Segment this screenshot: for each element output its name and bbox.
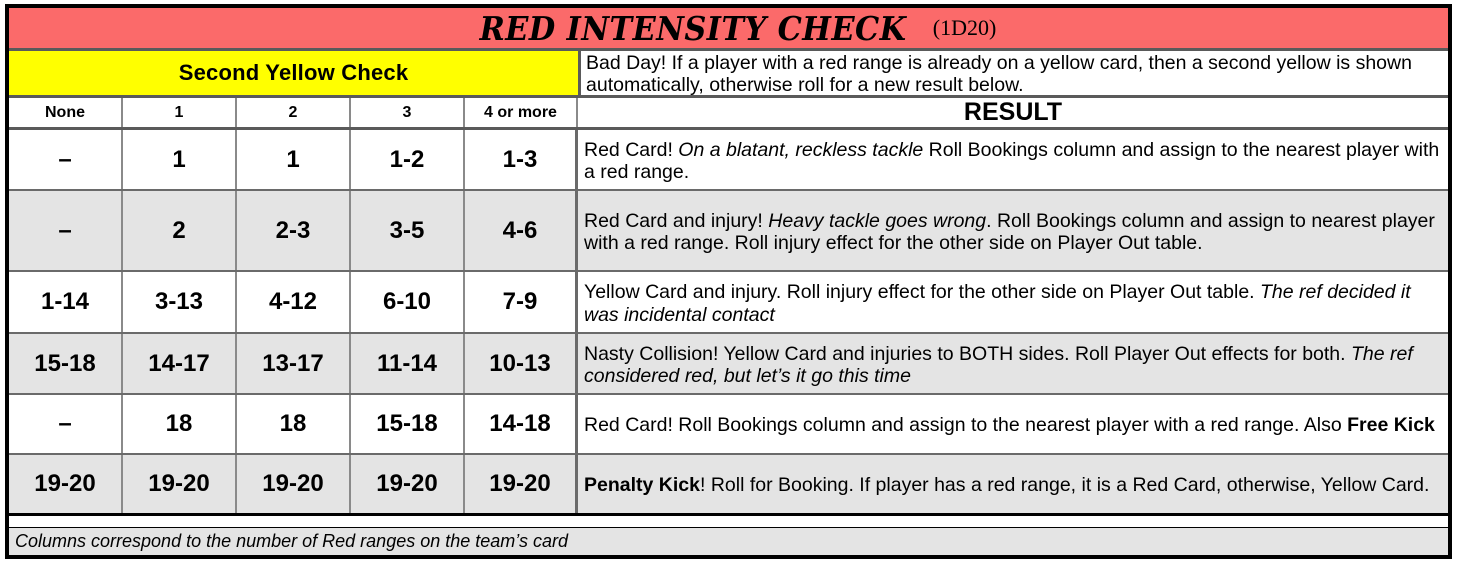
range-cell: 14-18 bbox=[465, 395, 578, 453]
table-body: –111-21-3Red Card! On a blatant, reckles… bbox=[9, 130, 1448, 527]
result-cell: Red Card and injury! Heavy tackle goes w… bbox=[578, 191, 1448, 270]
second-yellow-check-label: Second Yellow Check bbox=[179, 60, 409, 86]
range-cell: 19-20 bbox=[9, 455, 123, 513]
footer-note: Columns correspond to the number of Red … bbox=[15, 531, 568, 552]
range-cell: 4-6 bbox=[465, 191, 578, 270]
range-cell: 3-13 bbox=[123, 272, 237, 332]
range-cell: 18 bbox=[237, 395, 351, 453]
result-cell: Red Card! On a blatant, reckless tackle … bbox=[578, 130, 1448, 189]
range-cell: 2 bbox=[123, 191, 237, 270]
table-row: –181815-1814-18Red Card! Roll Bookings c… bbox=[9, 395, 1448, 455]
range-cell: 14-17 bbox=[123, 334, 237, 393]
range-cell: 15-18 bbox=[351, 395, 465, 453]
result-text: Nasty Collision! Yellow Card and injurie… bbox=[584, 343, 1442, 387]
range-cell: – bbox=[9, 130, 123, 189]
column-header-3: 3 bbox=[351, 98, 465, 127]
range-cell: 19-20 bbox=[123, 455, 237, 513]
second-yellow-check-note: Bad Day! If a player with a red range is… bbox=[581, 51, 1448, 95]
range-cell: – bbox=[9, 191, 123, 270]
range-cell: 19-20 bbox=[465, 455, 578, 513]
range-cell: 4-12 bbox=[237, 272, 351, 332]
range-cell: 1 bbox=[237, 130, 351, 189]
range-cell: 1 bbox=[123, 130, 237, 189]
column-header-result: RESULT bbox=[578, 98, 1448, 127]
red-intensity-check-table-page: RED INTENSITY CHECK (1D20) Second Yellow… bbox=[0, 0, 1457, 563]
result-text: Red Card and injury! Heavy tackle goes w… bbox=[584, 210, 1442, 254]
range-cell: 19-20 bbox=[351, 455, 465, 513]
table-row: 15-1814-1713-1711-1410-13Nasty Collision… bbox=[9, 334, 1448, 395]
result-cell: Nasty Collision! Yellow Card and injurie… bbox=[578, 334, 1448, 393]
column-header-1: 1 bbox=[123, 98, 237, 127]
range-cell: 15-18 bbox=[9, 334, 123, 393]
result-cell: Yellow Card and injury. Roll injury effe… bbox=[578, 272, 1448, 332]
column-header-row: None 1 2 3 4 or more RESULT bbox=[9, 98, 1448, 130]
range-cell: 1-14 bbox=[9, 272, 123, 332]
table-row: 1-143-134-126-107-9Yellow Card and injur… bbox=[9, 272, 1448, 334]
table-row: –22-33-54-6Red Card and injury! Heavy ta… bbox=[9, 191, 1448, 272]
result-text: Penalty Kick! Roll for Booking. If playe… bbox=[584, 474, 1442, 496]
page-title-dice-notation: (1D20) bbox=[933, 15, 997, 41]
table-row: –111-21-3Red Card! On a blatant, reckles… bbox=[9, 130, 1448, 191]
range-cell: 11-14 bbox=[351, 334, 465, 393]
second-yellow-check-banner: Second Yellow Check bbox=[9, 51, 581, 95]
result-text: Yellow Card and injury. Roll injury effe… bbox=[584, 281, 1442, 325]
table-footer: Columns correspond to the number of Red … bbox=[9, 527, 1448, 555]
second-yellow-check-row: Second Yellow Check Bad Day! If a player… bbox=[9, 51, 1448, 98]
column-header-4-or-more: 4 or more bbox=[465, 98, 578, 127]
range-cell: 18 bbox=[123, 395, 237, 453]
result-text: Red Card! On a blatant, reckless tackle … bbox=[584, 139, 1442, 183]
column-header-none: None bbox=[9, 98, 123, 127]
range-cell: 2-3 bbox=[237, 191, 351, 270]
range-cell: 7-9 bbox=[465, 272, 578, 332]
column-header-2: 2 bbox=[237, 98, 351, 127]
page-title: RED INTENSITY CHECK bbox=[479, 9, 906, 48]
range-cell: 10-13 bbox=[465, 334, 578, 393]
range-cell: 6-10 bbox=[351, 272, 465, 332]
range-cell: 1-3 bbox=[465, 130, 578, 189]
range-cell: 3-5 bbox=[351, 191, 465, 270]
table-frame: RED INTENSITY CHECK (1D20) Second Yellow… bbox=[5, 4, 1452, 559]
range-cell: 1-2 bbox=[351, 130, 465, 189]
range-cell: 19-20 bbox=[237, 455, 351, 513]
range-cell: – bbox=[9, 395, 123, 453]
result-text: Red Card! Roll Bookings column and assig… bbox=[584, 414, 1442, 436]
table-title-bar: RED INTENSITY CHECK (1D20) bbox=[9, 8, 1448, 51]
table-row: 19-2019-2019-2019-2019-20Penalty Kick! R… bbox=[9, 455, 1448, 516]
result-cell: Penalty Kick! Roll for Booking. If playe… bbox=[578, 455, 1448, 513]
range-cell: 13-17 bbox=[237, 334, 351, 393]
result-cell: Red Card! Roll Bookings column and assig… bbox=[578, 395, 1448, 453]
